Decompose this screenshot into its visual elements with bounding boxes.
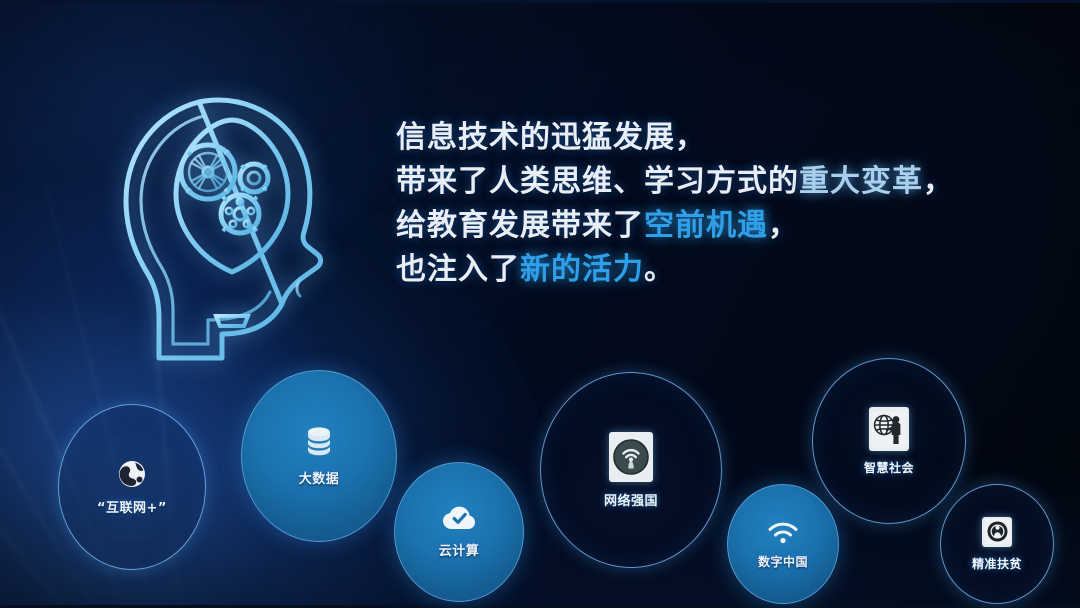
node-smart-society[interactable]: 智慧社会 [812,358,966,524]
headline-line-3-emphasis: 空前机遇 [644,208,768,243]
headline-block: 信息技术的迅猛发展， 带来了人类思维、学习方式的重大变革， 给教育发展带来了空前… [396,116,956,292]
headline-line-3-plain: 给教育发展带来了 [396,208,644,243]
node-label: 智慧社会 [864,459,914,476]
cloud-check-icon [442,506,476,532]
headline-line-3: 给教育发展带来了空前机遇， [396,204,956,248]
wifi-icon [766,519,800,545]
node-label: “互联网+” [97,497,167,516]
slide-canvas: 信息技术的迅猛发展， 带来了人类思维、学习方式的重大变革， 给教育发展带来了空前… [0,0,1080,608]
headline-line-2-plain: 带来了人类思维、学习方式的 [396,164,799,199]
headline-line-2: 带来了人类思维、学习方式的重大变革， [396,160,956,204]
headline-line-1: 信息技术的迅猛发展， [396,116,956,160]
node-big-data[interactable]: 大数据 [241,370,397,542]
headline-line-4: 也注入了新的活力。 [396,248,956,292]
database-icon [303,426,335,460]
node-label: 大数据 [299,468,340,487]
node-targeted-poverty-alleviation[interactable]: 精准扶贫 [940,484,1054,604]
person-in-circle-icon [982,517,1012,547]
headline-line-2-emphasis: 重大变革 [799,164,923,199]
node-label: 精准扶贫 [972,555,1022,572]
headline-line-2-tail: ， [923,164,954,199]
headline-line-4-emphasis: 新的活力 [520,252,644,287]
node-label: 云计算 [439,540,480,559]
headline-line-1-plain: 信息技术的迅猛发展， [396,120,706,155]
node-network-power[interactable]: 网络强国 [540,372,722,568]
node-internet-plus[interactable]: “互联网+” [58,404,206,570]
node-cloud-computing[interactable]: 云计算 [394,462,524,602]
node-digital-china[interactable]: 数字中国 [727,484,839,604]
headline-line-4-tail: 。 [644,252,675,287]
top-letterbox-band [0,0,1080,3]
globe-person-icon [869,407,909,451]
node-label: 网络强国 [604,490,658,509]
headline-line-4-plain: 也注入了 [396,252,520,287]
node-label: 数字中国 [758,553,808,570]
headline-line-3-tail: ， [768,208,799,243]
globe-icon [117,459,147,489]
signal-tower-icon [609,432,653,482]
head-with-lightbulb-illustration [104,72,354,372]
